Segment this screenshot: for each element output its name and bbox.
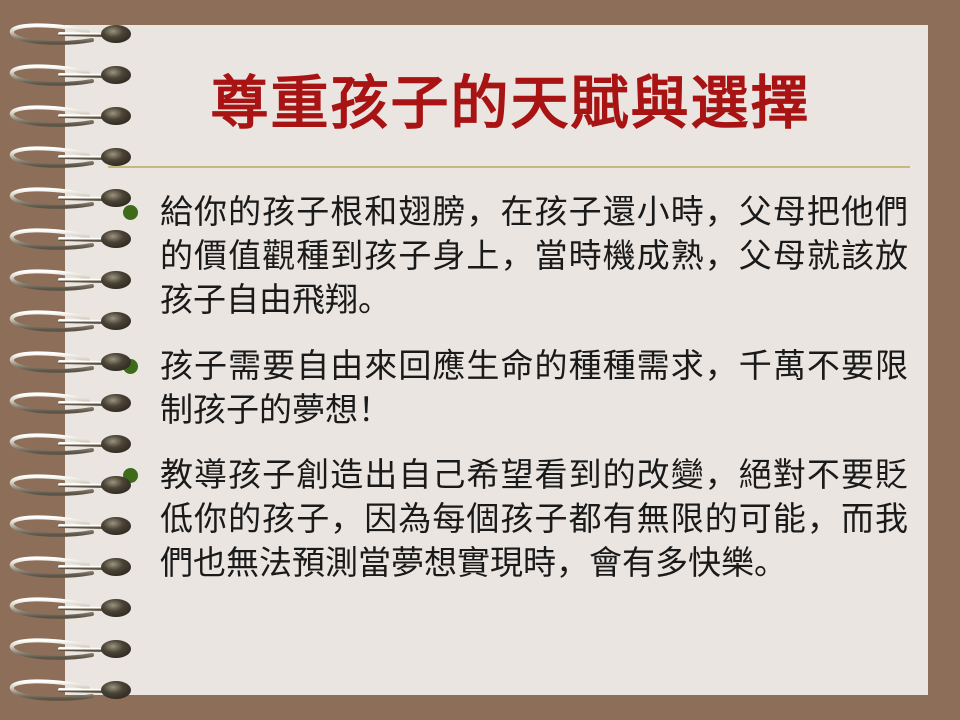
presentation-slide: 尊重孩子的天賦與選擇 給你的孩子根和翅膀，在孩子還小時，父母把他們的價值觀種到孩…: [0, 0, 960, 720]
page-title: 尊重孩子的天賦與選擇: [108, 72, 913, 135]
list-item: 孩子需要自由來回應生命的種種需求，千萬不要限制孩子的夢想！: [118, 344, 908, 432]
bullet-dot-icon: [123, 468, 138, 483]
bullet-dot-icon: [123, 205, 138, 220]
list-item-text: 孩子需要自由來回應生命的種種需求，千萬不要限制孩子的夢想！: [160, 344, 908, 432]
list-item: 給你的孩子根和翅膀，在孩子還小時，父母把他們的價值觀種到孩子身上，當時機成熟，父…: [118, 190, 908, 322]
bullet-dot-icon: [123, 359, 138, 374]
bullet-list: 給你的孩子根和翅膀，在孩子還小時，父母把他們的價值觀種到孩子身上，當時機成熟，父…: [118, 190, 908, 607]
title-divider-rule: [108, 166, 910, 168]
list-item-text: 教導孩子創造出自己希望看到的改變，絕對不要貶低你的孩子，因為每個孩子都有無限的可…: [160, 453, 908, 585]
title-block: 尊重孩子的天賦與選擇: [108, 72, 913, 135]
list-item-text: 給你的孩子根和翅膀，在孩子還小時，父母把他們的價值觀種到孩子身上，當時機成熟，父…: [160, 190, 908, 322]
list-item: 教導孩子創造出自己希望看到的改變，絕對不要貶低你的孩子，因為每個孩子都有無限的可…: [118, 453, 908, 585]
